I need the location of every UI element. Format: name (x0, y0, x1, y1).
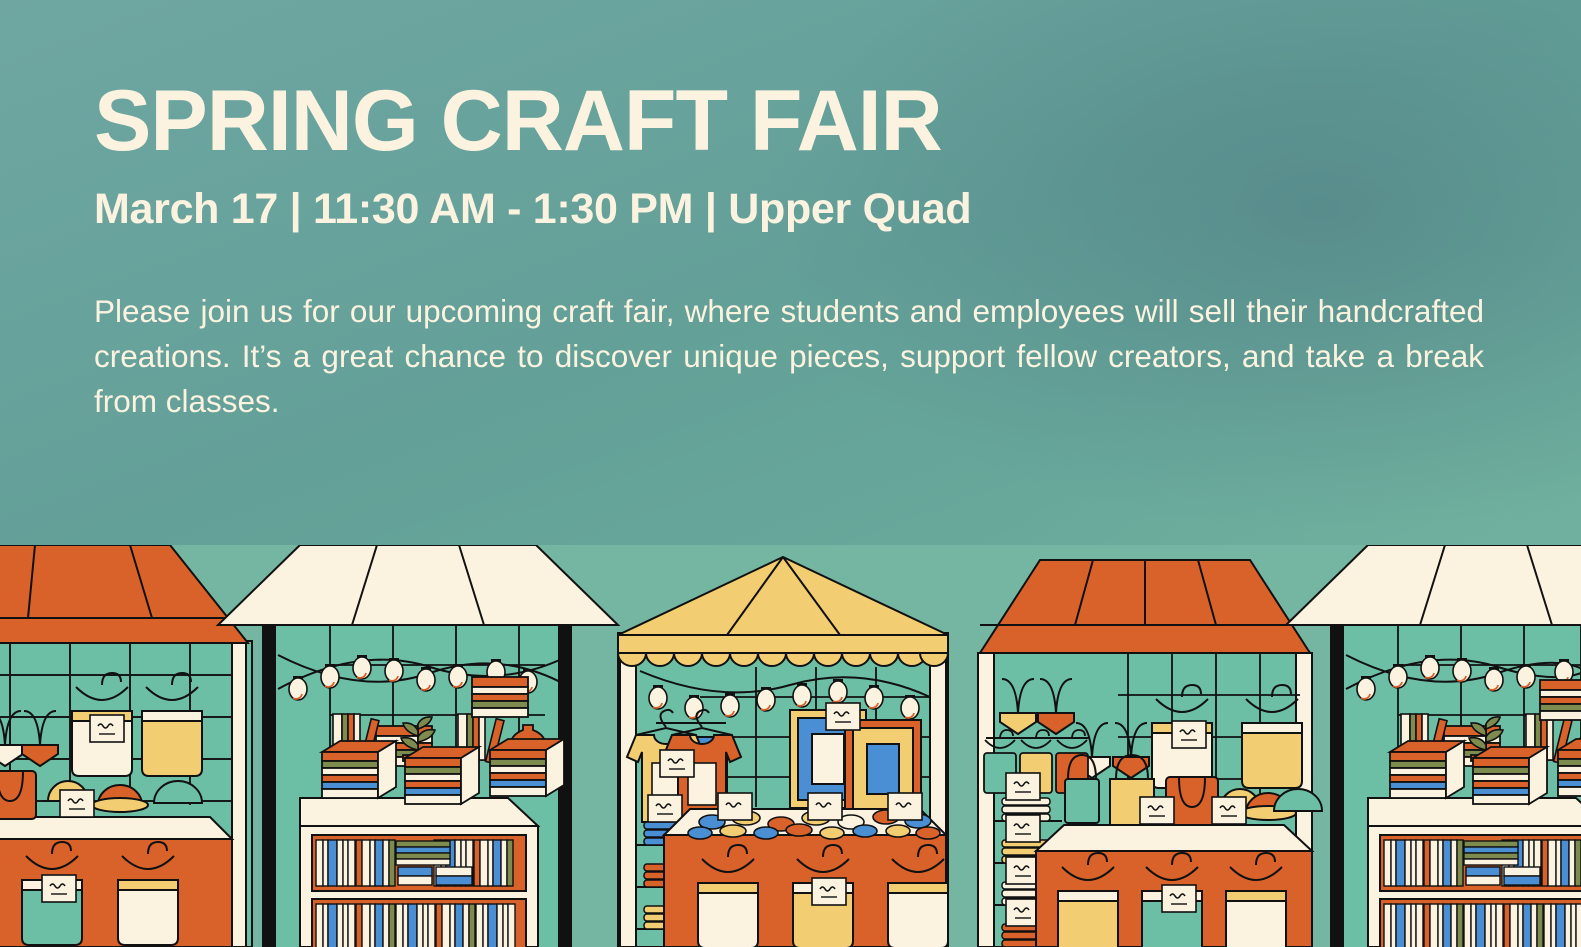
bookshelf-row-lower (1384, 904, 1581, 947)
stall-post (1330, 623, 1344, 947)
page-title: SPRING CRAFT FAIR (94, 78, 1494, 164)
stall-2-book-stall (218, 545, 618, 947)
price-tag (90, 715, 124, 742)
text-block: SPRING CRAFT FAIR March 17 | 11:30 AM - … (94, 78, 1494, 423)
event-description: Please join us for our upcoming craft fa… (94, 289, 1484, 423)
poster-canvas: SPRING CRAFT FAIR March 17 | 11:30 AM - … (0, 0, 1581, 947)
bookshelf-row-upper (316, 840, 513, 886)
counter-book-stack (490, 739, 564, 796)
stall-5-book-stall (1286, 545, 1581, 947)
stall-3-craft-stall (618, 557, 948, 947)
stall-post (262, 623, 276, 947)
bookshelf-row-lower (316, 904, 515, 947)
counter-book-stack (405, 747, 479, 804)
stall-1-bag-stall (0, 545, 252, 947)
counter-book-stack (322, 741, 396, 798)
event-details-line: March 17 | 11:30 AM - 1:30 PM | Upper Qu… (94, 186, 1494, 233)
stall-4-bag-stall (978, 560, 1322, 947)
market-stalls-illustration (0, 545, 1581, 947)
bookshelf-row-upper (1384, 840, 1581, 886)
